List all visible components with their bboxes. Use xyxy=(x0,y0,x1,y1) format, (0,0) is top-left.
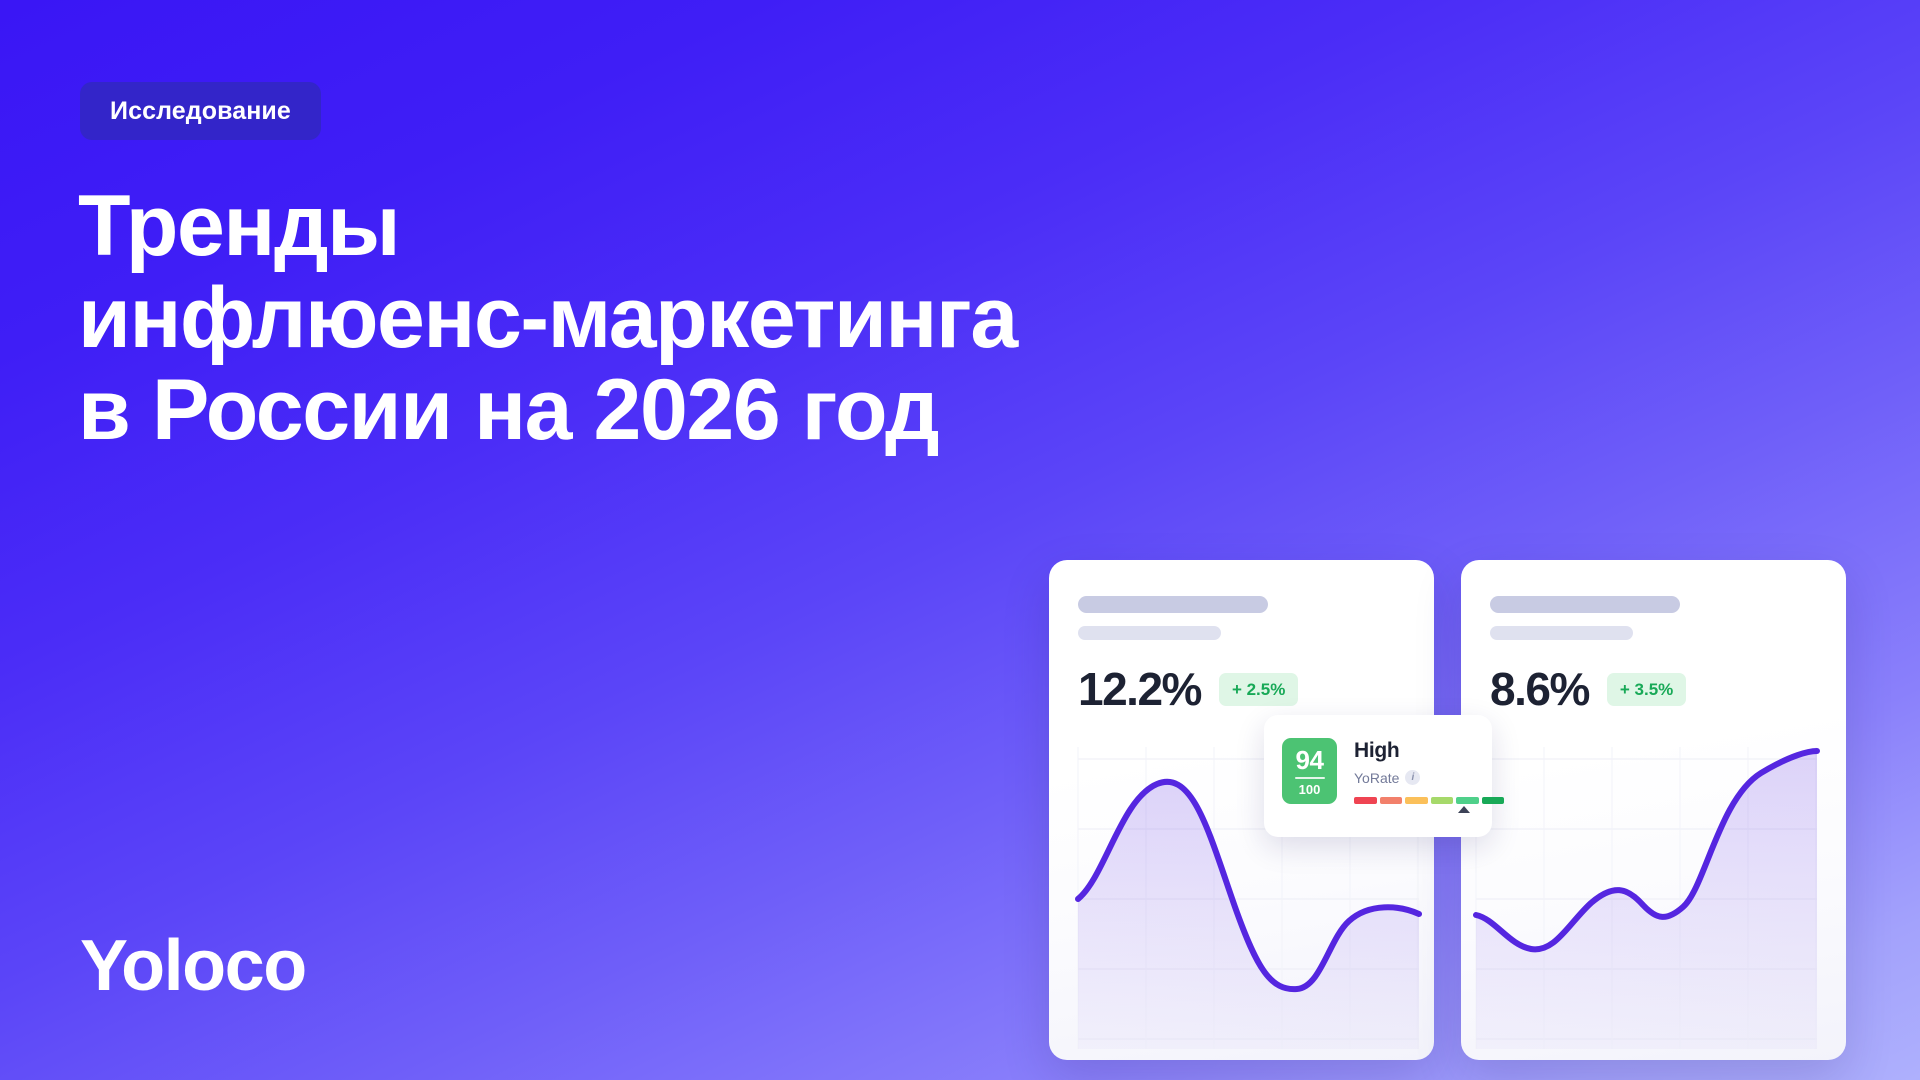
yorate-score-value: 94 xyxy=(1296,747,1324,773)
skeleton-bar-primary xyxy=(1078,596,1268,613)
headline-line-2: инфлюенс-маркетинга xyxy=(78,272,1368,364)
skeleton-bar-primary xyxy=(1490,596,1680,613)
headline-line-3: в России на 2026 год xyxy=(78,364,1368,456)
metric-delta-badge: + 3.5% xyxy=(1607,673,1686,706)
scale-segment xyxy=(1354,797,1377,804)
scale-segment xyxy=(1431,797,1454,804)
info-icon[interactable]: i xyxy=(1405,770,1420,785)
research-badge: Исследование xyxy=(80,82,321,140)
scale-segment xyxy=(1456,797,1479,804)
metric-value: 8.6% xyxy=(1490,666,1589,712)
right-chart-svg xyxy=(1461,737,1846,1060)
poster-canvas: Исследование Тренды инфлюенс-маркетинга … xyxy=(0,0,1920,1080)
page-title: Тренды инфлюенс-маркетинга в России на 2… xyxy=(78,180,1368,456)
yorate-rating-label: High xyxy=(1354,740,1504,761)
research-badge-label: Исследование xyxy=(110,97,291,126)
scale-pointer-icon xyxy=(1458,806,1470,813)
metric-card-right: 8.6% + 3.5% xyxy=(1461,560,1846,1060)
yorate-score-divider xyxy=(1295,777,1325,779)
yorate-score-box: 94 100 xyxy=(1282,738,1337,804)
metric-row: 12.2% + 2.5% xyxy=(1078,666,1298,712)
right-card-chart xyxy=(1461,737,1846,1060)
scale-segment xyxy=(1482,797,1505,804)
headline-line-1: Тренды xyxy=(78,180,1368,272)
right-chart-area xyxy=(1476,751,1817,1049)
metric-value: 12.2% xyxy=(1078,666,1201,712)
yorate-metric-row: YoRate i xyxy=(1354,770,1504,785)
yoloco-logo-text: Yoloco xyxy=(80,926,306,1006)
scale-segment xyxy=(1380,797,1403,804)
yorate-widget: 94 100 High YoRate i xyxy=(1264,715,1492,837)
yorate-details: High YoRate i xyxy=(1354,738,1504,804)
scale-segment xyxy=(1405,797,1428,804)
yoloco-logo: Yoloco xyxy=(80,930,306,1002)
yorate-score-max: 100 xyxy=(1299,783,1321,796)
skeleton-bar-secondary xyxy=(1078,626,1221,640)
skeleton-bar-secondary xyxy=(1490,626,1633,640)
yorate-scale xyxy=(1354,797,1504,804)
metric-row: 8.6% + 3.5% xyxy=(1490,666,1686,712)
metric-delta-badge: + 2.5% xyxy=(1219,673,1298,706)
yorate-metric-name: YoRate xyxy=(1354,771,1399,785)
